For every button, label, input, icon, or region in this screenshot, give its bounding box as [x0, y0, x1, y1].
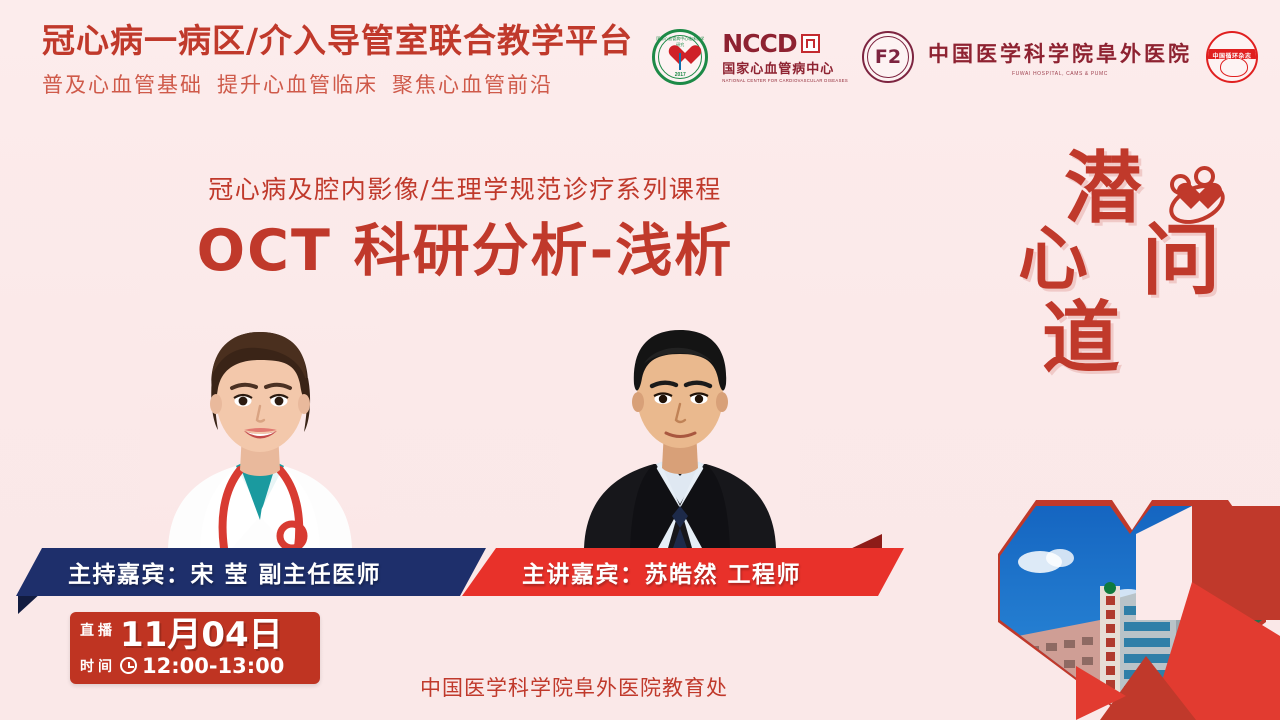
- nccd-row: NCCD: [722, 31, 819, 56]
- subtitle-part-2: 提升心血管临床: [217, 73, 378, 97]
- subtitle-part-1: 普及心血管基础: [42, 73, 203, 97]
- poster-root: 冠心病一病区/介入导管室联合教学平台 普及心血管基础提升心血管临床聚焦心血管前沿…: [0, 0, 1280, 720]
- brandmark-char-qian: 潜: [1064, 150, 1142, 228]
- nccd-letters: NCCD: [722, 31, 796, 56]
- organizer-footer: 中国医学科学院阜外医院教育处: [420, 672, 728, 702]
- ribbon-fold-right: [848, 534, 882, 550]
- seal-shape-icon: [1220, 57, 1248, 77]
- brandmark-qianxinwendao: 潜 问 心 道: [1010, 150, 1260, 430]
- nccd-square-icon: [801, 34, 820, 53]
- brandmark-char-wen: 问: [1142, 222, 1220, 300]
- host-portrait: [140, 280, 380, 548]
- live-time-row: 12:00-13:00: [120, 654, 320, 678]
- journal-seal-text: 中国循环杂志: [1212, 51, 1251, 60]
- caduceus-icon: [679, 53, 681, 70]
- f2-letters: F2: [875, 48, 901, 67]
- logo-strip: 国家心血管病中心临床医学研究 2017 NCCD 国家心血管病中心 NATION…: [652, 24, 1258, 90]
- clock-icon: [120, 657, 137, 674]
- speaker-portrait: [560, 280, 800, 548]
- heart-stethoscope-icon: [1168, 172, 1220, 224]
- main-title: OCT 科研分析-浅析: [0, 205, 930, 287]
- live-time-label: 直 播 时 间: [70, 612, 114, 684]
- platform-subtitle: 普及心血管基础提升心血管临床聚焦心血管前沿: [42, 69, 633, 99]
- subtitle-part-3: 聚焦心血管前沿: [392, 73, 553, 97]
- nccd-chinese-name: 国家心血管病中心: [722, 58, 834, 77]
- live-schedule-box: 直 播 时 间 11月04日 12:00-13:00: [70, 612, 320, 684]
- nccd-wordmark-logo: NCCD 国家心血管病中心 NATIONAL CENTER FOR CARDIO…: [722, 31, 848, 83]
- green-seal-heart-icon: [668, 46, 692, 68]
- label-char-3: 时: [80, 656, 94, 676]
- brandmark-char-xin: 心: [1018, 224, 1088, 294]
- header-text-block: 冠心病一病区/介入导管室联合教学平台 普及心血管基础提升心血管临床聚焦心血管前沿: [42, 22, 633, 99]
- nccd-english-name: NATIONAL CENTER FOR CARDIOVASCULAR DISEA…: [722, 78, 848, 83]
- host-banner: 主持嘉宾：宋 莹 副主任医师: [16, 548, 486, 596]
- label-char-1: 直: [80, 620, 94, 640]
- f2-seal-icon: F2: [862, 31, 914, 83]
- speaker-banner: 主讲嘉宾：苏皓然 工程师: [462, 548, 904, 596]
- platform-title: 冠心病一病区/介入导管室联合教学平台: [42, 22, 633, 61]
- speaker-banner-text: 主讲嘉宾：苏皓然 工程师: [522, 555, 801, 589]
- hospital-heart-decor: [940, 470, 1280, 720]
- label-char-2: 播: [98, 620, 112, 640]
- host-banner-text: 主持嘉宾：宋 莹 副主任医师: [68, 555, 381, 589]
- page-header: 冠心病一病区/介入导管室联合教学平台 普及心血管基础提升心血管临床聚焦心血管前沿…: [0, 0, 1280, 118]
- fuwai-english-name: FUWAI HOSPITAL, CAMS & PUMC: [1012, 71, 1108, 77]
- live-date: 11月04日: [120, 618, 320, 653]
- journal-seal-icon: 中国循环杂志: [1206, 31, 1258, 83]
- series-title: 冠心病及腔内影像/生理学规范诊疗系列课程: [0, 170, 930, 206]
- green-seal-year: 2017: [655, 72, 705, 78]
- label-char-4: 间: [98, 656, 112, 676]
- fuwai-wordmark-logo: 中国医学科学院阜外医院 FUWAI HOSPITAL, CAMS & PUMC: [928, 38, 1192, 77]
- fuwai-chinese-name: 中国医学科学院阜外医院: [928, 38, 1192, 68]
- nccd-green-seal-icon: 国家心血管病中心临床医学研究 2017: [652, 29, 708, 85]
- schedule-values: 11月04日 12:00-13:00: [114, 618, 320, 678]
- speakers-ribbon-banner: 主持嘉宾：宋 莹 副主任医师 主讲嘉宾：苏皓然 工程师: [0, 548, 920, 596]
- brandmark-char-dao: 道: [1042, 300, 1120, 378]
- live-time-range: 12:00-13:00: [142, 654, 284, 678]
